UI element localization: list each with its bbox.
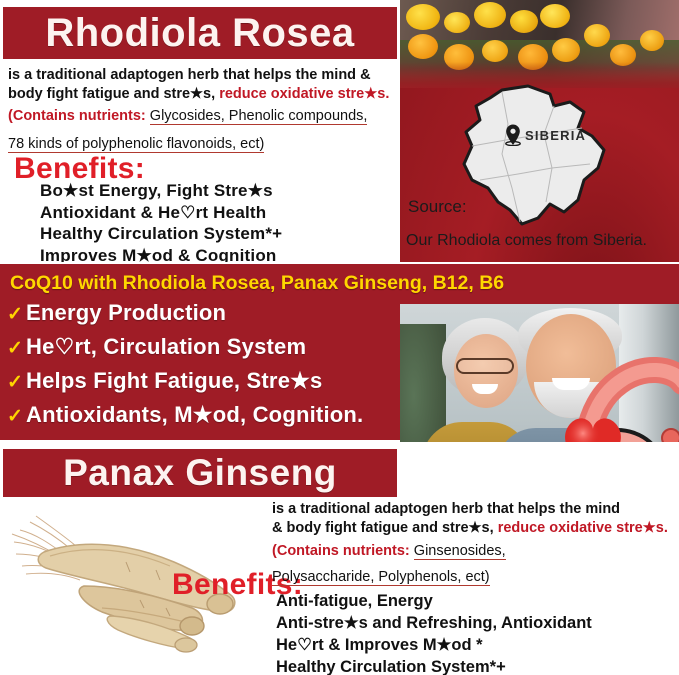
formula-headline: CoQ10 with Rhodiola Rosea, Panax Ginseng… [10,272,504,295]
list-item: Healthy Circulation System*+ [276,656,592,675]
check-icon: ✓ [4,371,26,394]
rhodiola-contains-label: Contains nutrients: [13,108,146,124]
rhodiola-description: is a traditional adaptogen herb that hel… [8,66,400,154]
siberia-map-graphic [458,84,613,232]
rhodiola-desc-line1: is a traditional adaptogen herb that hel… [8,66,400,85]
panax-desc-line2-black: & body fight fatigue and stre★s, [272,520,494,536]
list-item: ✓ Helps Fight Fatigue, Stre★s [4,368,363,402]
check-icon: ✓ [4,303,26,326]
check-icon: ✓ [4,405,26,428]
panax-desc-line1: is a traditional adaptogen herb that hel… [272,500,676,519]
formula-benefits-list: ✓ Energy Production ✓ He♡rt, Circulation… [4,300,363,436]
map-pin-label: SIBERIA [525,128,586,143]
rhodiola-contains-value1: Glycosides, Phenolic compounds, [150,108,368,125]
list-item-label: Helps Fight Fatigue, Stre★s [26,368,323,394]
source-text: Our Rhodiola comes from Siberia. [406,232,647,250]
panax-desc-line2: & body fight fatigue and stre★s, reduce … [272,519,676,538]
panax-title: Panax Ginseng [63,452,337,494]
panax-description: is a traditional adaptogen herb that hel… [272,500,676,587]
list-item: Healthy Circulation System*+ [40,223,282,245]
panax-contains-line2: Polysaccharide, Polyphenols, ect) [272,568,676,587]
map-pin-icon [505,124,521,146]
formula-banner-section: CoQ10 with Rhodiola Rosea, Panax Ginseng… [0,262,679,442]
eyeglasses-icon [456,358,514,374]
rhodiola-desc-line2-black: body fight fatigue and stre★s, [8,86,215,102]
source-label: Source: [408,197,467,217]
rhodiola-source-panel: SIBERIA Source: Our Rhodiola comes from … [400,0,679,262]
rhodiola-desc-line2-red: reduce oxidative stre★s. [219,86,389,102]
rhodiola-section: Rhodiola Rosea is a traditional adaptoge… [0,0,679,262]
list-item: ✓ Energy Production [4,300,363,334]
list-item-label: Energy Production [26,300,226,326]
list-item: ✓ Antioxidants, M★od, Cognition. [4,402,363,436]
panax-contains-value1: Ginsenosides, [414,543,506,560]
panax-section: Panax Ginseng Benefits: [0,442,679,675]
rhodiola-title: Rhodiola Rosea [45,11,354,56]
panax-title-banner: Panax Ginseng [0,446,400,500]
rhodiola-title-banner: Rhodiola Rosea [0,4,400,62]
list-item: Bo★st Energy, Fight Stre★s [40,180,282,202]
list-item: He♡rt & Improves M★od * [276,634,592,656]
panax-contains-line1: (Contains nutrients: Ginsenosides, [272,542,676,561]
list-item: Antioxidant & He♡rt Health [40,202,282,224]
check-icon: ✓ [4,337,26,360]
list-item-label: Antioxidants, M★od, Cognition. [26,402,363,428]
list-item: Anti-stre★s and Refreshing, Antioxidant [276,612,592,634]
list-item: ✓ He♡rt, Circulation System [4,334,363,368]
rhodiola-contains-line1: (Contains nutrients: Glycosides, Phenoli… [8,107,400,126]
panax-desc-line2-red: reduce oxidative stre★s. [498,520,668,536]
list-item: Anti-fatigue, Energy [276,590,592,612]
infographic-page: Rhodiola Rosea is a traditional adaptoge… [0,0,679,675]
panax-contains-value2: Polysaccharide, Polyphenols, ect) [272,569,490,586]
rhodiola-desc-line2: body fight fatigue and stre★s, reduce ox… [8,85,400,104]
panax-contains-label: Contains nutrients: [277,543,410,559]
rhodiola-flowers-photo [400,0,679,88]
list-item-label: He♡rt, Circulation System [26,334,306,360]
panax-benefits-list: Anti-fatigue, Energy Anti-stre★s and Ref… [276,590,592,675]
rhodiola-contains-value2: 78 kinds of polyphenolic flavonoids, ect… [8,136,264,153]
rhodiola-benefits-list: Bo★st Energy, Fight Stre★s Antioxidant &… [40,180,282,266]
